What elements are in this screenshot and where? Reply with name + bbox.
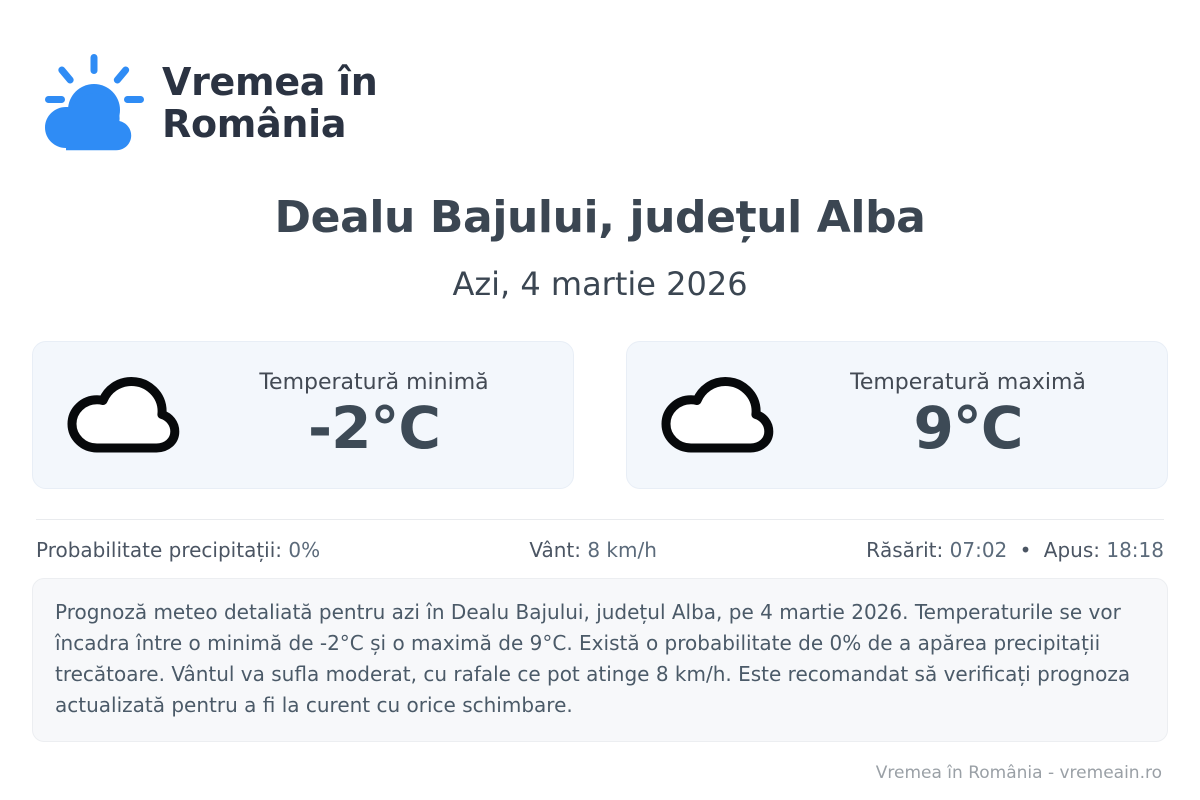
- max-temperature-label: Temperatură maximă: [850, 369, 1086, 397]
- temperature-cards: Temperatură minimă -2°C Temperatură maxi…: [32, 341, 1168, 489]
- stats-divider: [36, 519, 1164, 520]
- sunset-value: 18:18: [1106, 538, 1164, 562]
- cloud-icon: [63, 372, 183, 458]
- stat-separator: •: [1014, 538, 1038, 562]
- min-temperature-card: Temperatură minimă -2°C: [32, 341, 574, 489]
- brand-header[interactable]: Vremea în România: [36, 52, 378, 156]
- precipitation-label: Probabilitate precipitații:: [36, 538, 282, 562]
- wind-label: Vânt:: [529, 538, 581, 562]
- sunset-label: Apus:: [1044, 538, 1100, 562]
- weather-page: Vremea în România Dealu Bajului, județul…: [0, 0, 1200, 800]
- weather-stats: Probabilitate precipitații: 0% Vânt: 8 k…: [36, 538, 1164, 562]
- brand-name: Vremea în România: [162, 62, 378, 146]
- wind-stat: Vânt: 8 km/h: [320, 538, 866, 562]
- precipitation-value: 0%: [288, 538, 320, 562]
- precipitation-stat: Probabilitate precipitații: 0%: [36, 538, 320, 562]
- max-temperature-body: Temperatură maximă 9°C: [793, 369, 1149, 461]
- footer-credit: Vremea în România - vremeain.ro: [876, 763, 1162, 783]
- sun-times-stat: Răsărit: 07:02 • Apus: 18:18: [866, 538, 1164, 562]
- sun-behind-cloud-icon: [36, 52, 144, 156]
- forecast-description-text: Prognoză meteo detaliată pentru azi în D…: [55, 597, 1141, 721]
- forecast-description-box: Prognoză meteo detaliată pentru azi în D…: [32, 578, 1168, 742]
- cloud-icon: [657, 372, 777, 458]
- page-subtitle: Azi, 4 martie 2026: [0, 265, 1200, 303]
- sunrise-label: Răsărit:: [866, 538, 943, 562]
- page-title: Dealu Bajului, județul Alba: [0, 192, 1200, 243]
- min-temperature-body: Temperatură minimă -2°C: [199, 369, 555, 461]
- min-temperature-value: -2°C: [308, 396, 440, 461]
- max-temperature-card: Temperatură maximă 9°C: [626, 341, 1168, 489]
- min-temperature-label: Temperatură minimă: [259, 369, 488, 397]
- sunrise-value: 07:02: [950, 538, 1008, 562]
- wind-value: 8 km/h: [587, 538, 657, 562]
- max-temperature-value: 9°C: [914, 396, 1023, 461]
